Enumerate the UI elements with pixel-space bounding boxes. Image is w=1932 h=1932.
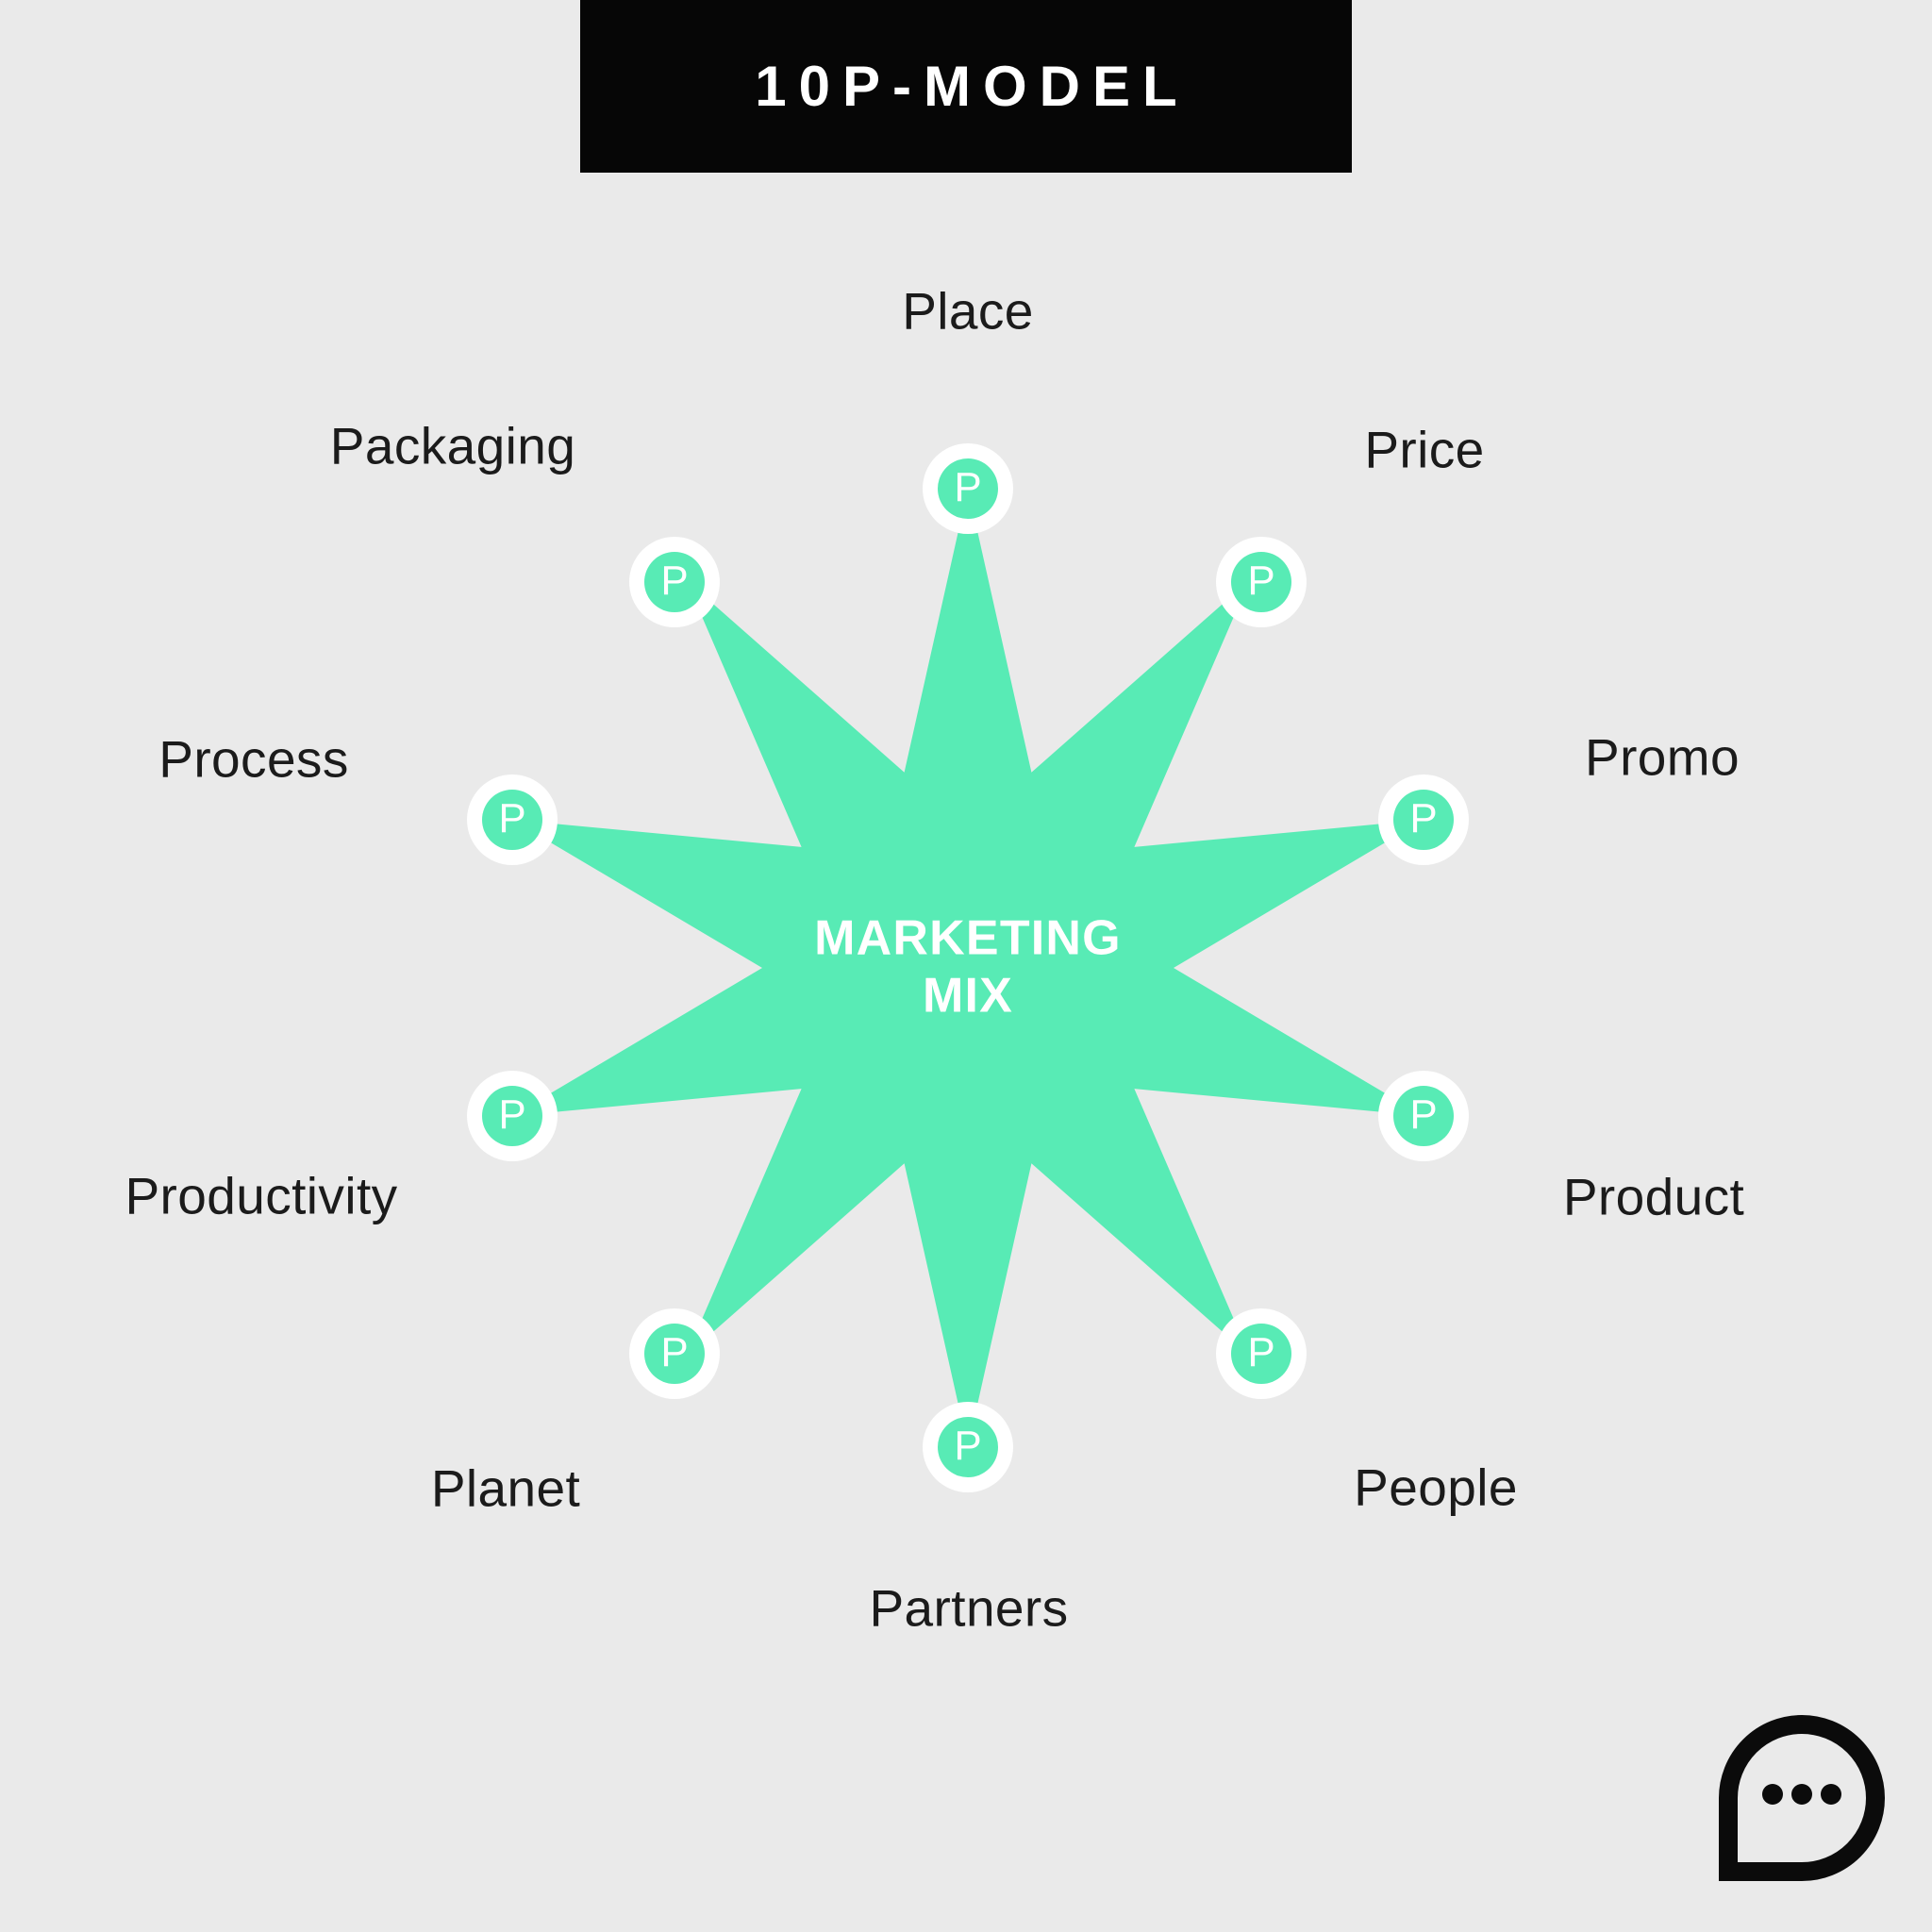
p-badge-disc: P — [482, 1086, 542, 1146]
p-badge-glyph: P — [1409, 1094, 1437, 1136]
chat-dot-3 — [1821, 1784, 1841, 1805]
p-badge-packaging[interactable]: P — [629, 537, 720, 627]
p-badge-disc: P — [1393, 1086, 1454, 1146]
p-badge-price[interactable]: P — [1216, 537, 1307, 627]
ten-point-star-polygon — [512, 489, 1424, 1447]
p-badge-disc: P — [1393, 790, 1454, 850]
marketing-mix-star-diagram: MARKETING MIX PPPPPPPPPP PlacePricePromo… — [0, 0, 1932, 1932]
p-badge-disc: P — [482, 790, 542, 850]
p-badge-glyph: P — [498, 798, 525, 840]
node-label-promo: Promo — [1585, 732, 1740, 784]
node-label-productivity: Productivity — [125, 1171, 397, 1223]
p-badge-partners[interactable]: P — [923, 1402, 1013, 1492]
node-label-place: Place — [902, 286, 1034, 338]
node-label-price: Price — [1364, 425, 1484, 476]
p-badge-disc: P — [938, 1417, 998, 1477]
p-badge-place[interactable]: P — [923, 443, 1013, 534]
p-badge-people[interactable]: P — [1216, 1308, 1307, 1399]
infographic-canvas: 10P-MODEL MARKETING MIX PPPPPPPPPP Place… — [0, 0, 1932, 1932]
chat-dot-2 — [1791, 1784, 1812, 1805]
p-badge-planet[interactable]: P — [629, 1308, 720, 1399]
p-badge-process[interactable]: P — [467, 774, 558, 865]
p-badge-glyph: P — [660, 1332, 688, 1374]
p-badge-promo[interactable]: P — [1378, 774, 1469, 865]
p-badge-glyph: P — [954, 467, 981, 508]
p-badge-disc: P — [1231, 552, 1291, 612]
p-badge-disc: P — [938, 458, 998, 519]
node-label-product: Product — [1563, 1172, 1744, 1224]
chat-bubble-svg — [1719, 1715, 1885, 1881]
node-label-process: Process — [158, 734, 348, 786]
p-badge-product[interactable]: P — [1378, 1071, 1469, 1161]
chat-bubble-ellipsis-icon — [1719, 1715, 1885, 1881]
p-badge-glyph: P — [954, 1425, 981, 1467]
node-label-planet: Planet — [431, 1463, 580, 1515]
p-badge-productivity[interactable]: P — [467, 1071, 558, 1161]
p-badge-glyph: P — [1247, 560, 1274, 602]
p-badge-disc: P — [1231, 1324, 1291, 1384]
p-badge-disc: P — [644, 1324, 705, 1384]
p-badge-disc: P — [644, 552, 705, 612]
node-label-people: People — [1354, 1462, 1518, 1514]
p-badge-glyph: P — [660, 560, 688, 602]
node-label-packaging: Packaging — [330, 421, 575, 473]
p-badge-glyph: P — [498, 1094, 525, 1136]
p-badge-glyph: P — [1247, 1332, 1274, 1374]
chat-dot-1 — [1762, 1784, 1783, 1805]
p-badge-glyph: P — [1409, 798, 1437, 840]
node-label-partners: Partners — [869, 1583, 1068, 1635]
